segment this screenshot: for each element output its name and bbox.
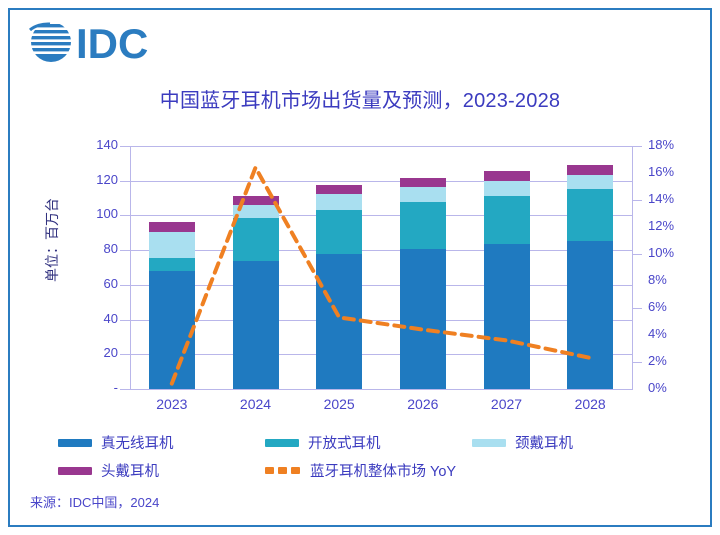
gridline <box>130 285 632 286</box>
y-axis-left-tick-mark <box>120 146 130 147</box>
y-axis-left-tick: - <box>72 380 118 395</box>
bar-segment[interactable] <box>400 249 446 389</box>
legend-swatch-dashed-line <box>265 467 301 475</box>
y-axis-left-tick: 120 <box>72 172 118 187</box>
y-axis-left-tick: 80 <box>72 241 118 256</box>
bar-segment[interactable] <box>484 244 530 389</box>
y-axis-right-tick: 18% <box>648 137 674 152</box>
bar-segment[interactable] <box>233 196 279 205</box>
idc-globe-icon <box>28 24 78 62</box>
y-axis-right-tick: 2% <box>648 353 667 368</box>
y-axis-right-tick: 0% <box>648 380 667 395</box>
bar-group[interactable] <box>484 171 530 389</box>
y-axis-right-tick: 12% <box>648 218 674 233</box>
y-axis-right-tick: 4% <box>648 326 667 341</box>
bar-segment[interactable] <box>233 205 279 218</box>
legend-label-0: 真无线耳机 <box>101 432 174 453</box>
y-axis-right-tick-mark <box>632 362 642 363</box>
bar-segment[interactable] <box>567 175 613 190</box>
bar-segment[interactable] <box>400 202 446 250</box>
legend-row-1: 真无线耳机 开放式耳机 颈戴耳机 <box>58 432 678 460</box>
idc-logo: IDC <box>26 16 186 68</box>
x-axis-label: 2028 <box>548 396 632 412</box>
bar-segment[interactable] <box>316 254 362 389</box>
bar-segment[interactable] <box>400 178 446 187</box>
x-axis-label: 2027 <box>465 396 549 412</box>
legend-label-1: 开放式耳机 <box>308 432 381 453</box>
bar-segment[interactable] <box>233 261 279 389</box>
bar-group[interactable] <box>149 222 195 389</box>
y-axis-left-tick-mark <box>120 215 130 216</box>
bar-group[interactable] <box>567 165 613 389</box>
bar-segment[interactable] <box>149 232 195 258</box>
gridline <box>130 389 632 390</box>
y-axis-left-tick-mark <box>120 320 130 321</box>
x-axis-label: 2026 <box>381 396 465 412</box>
y-axis-left-tick: 20 <box>72 345 118 360</box>
y-axis-right-tick: 14% <box>648 191 674 206</box>
bar-group[interactable] <box>233 196 279 389</box>
bar-segment[interactable] <box>316 210 362 253</box>
legend-label-3: 头戴耳机 <box>101 460 159 481</box>
source-note: 来源：IDC中国，2024 <box>30 492 159 511</box>
legend-swatch-3 <box>58 467 92 475</box>
y-axis-right-tick-mark <box>632 200 642 201</box>
bar-group[interactable] <box>316 185 362 389</box>
legend-item-4[interactable]: 蓝牙耳机整体市场 YoY <box>265 460 456 481</box>
y-axis-right-tick-mark <box>632 254 642 255</box>
gridline <box>130 215 632 216</box>
x-axis-label: 2023 <box>130 396 214 412</box>
legend-item-0[interactable]: 真无线耳机 <box>58 432 174 453</box>
gridline <box>130 250 632 251</box>
legend-item-2[interactable]: 颈戴耳机 <box>472 432 573 453</box>
bar-segment[interactable] <box>149 271 195 389</box>
bar-segment[interactable] <box>316 194 362 210</box>
legend-item-3[interactable]: 头戴耳机 <box>58 460 159 481</box>
x-axis-label: 2024 <box>214 396 298 412</box>
gridline <box>130 354 632 355</box>
slide-root: IDC 中国蓝牙耳机市场出货量及预测，2023-2028 14012010080… <box>0 0 720 535</box>
gridline <box>130 181 632 182</box>
y-axis-right-tick: 16% <box>648 164 674 179</box>
y-axis-left-tick-mark <box>120 181 130 182</box>
y-axis-left-tick: 60 <box>72 276 118 291</box>
bar-segment[interactable] <box>567 165 613 175</box>
bar-segment[interactable] <box>484 196 530 244</box>
y-axis-left-tick-mark <box>120 389 130 390</box>
y-axis-left-label: 单位：百万台 <box>42 180 62 300</box>
y-axis-left-tick-mark <box>120 354 130 355</box>
gridline <box>130 320 632 321</box>
bar-segment[interactable] <box>400 187 446 202</box>
bar-segment[interactable] <box>316 185 362 194</box>
chart-title: 中国蓝牙耳机市场出货量及预测，2023-2028 <box>0 84 720 113</box>
idc-logo-text: IDC <box>76 20 148 67</box>
y-axis-right-tick-mark <box>632 308 642 309</box>
plot-area <box>130 146 632 389</box>
bar-segment[interactable] <box>233 218 279 261</box>
bar-segment[interactable] <box>484 171 530 181</box>
y-axis-right-tick: 6% <box>648 299 667 314</box>
bar-segment[interactable] <box>484 181 530 197</box>
y-axis-right-tick: 8% <box>648 272 667 287</box>
y-axis-left-tick-mark <box>120 250 130 251</box>
legend-swatch-2 <box>472 439 506 447</box>
y-axis-left-tick-mark <box>120 285 130 286</box>
gridline <box>130 146 632 147</box>
bar-segment[interactable] <box>567 189 613 240</box>
legend-label-2: 颈戴耳机 <box>515 432 573 453</box>
chart-legend: 真无线耳机 开放式耳机 颈戴耳机 头戴耳机 蓝牙耳机整体市场 YoY <box>58 432 678 488</box>
bar-segment[interactable] <box>567 241 613 389</box>
y-axis-right-tick-mark <box>632 146 642 147</box>
y-axis-left-tick: 40 <box>72 311 118 326</box>
bar-segment[interactable] <box>149 258 195 271</box>
legend-swatch-0 <box>58 439 92 447</box>
bar-group[interactable] <box>400 178 446 389</box>
legend-item-1[interactable]: 开放式耳机 <box>265 432 381 453</box>
y-axis-left-tick: 140 <box>72 137 118 152</box>
y-axis-left-tick: 100 <box>72 206 118 221</box>
legend-swatch-1 <box>265 439 299 447</box>
y-axis-right-line <box>632 146 633 390</box>
y-axis-right-tick: 10% <box>648 245 674 260</box>
bar-segment[interactable] <box>149 222 195 232</box>
legend-label-4: 蓝牙耳机整体市场 YoY <box>310 460 456 481</box>
x-axis-label: 2025 <box>297 396 381 412</box>
legend-row-2: 头戴耳机 蓝牙耳机整体市场 YoY <box>58 460 678 488</box>
